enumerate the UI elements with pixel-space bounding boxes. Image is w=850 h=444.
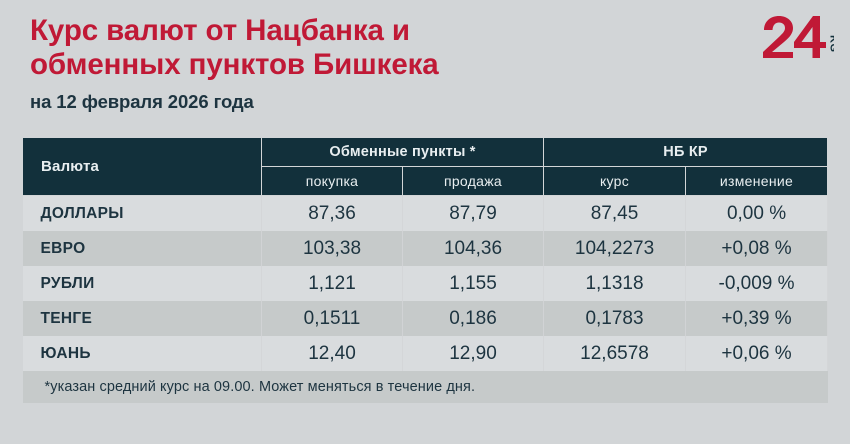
cell-change: +0,39 % — [686, 301, 828, 336]
cell-rate: 0,1783 — [544, 301, 686, 336]
cell-sell: 1,155 — [403, 266, 544, 301]
page-title-line-2: обменных пунктов Бишкека — [30, 48, 630, 82]
cell-rate: 12,6578 — [544, 336, 686, 371]
cell-change: 0,00 % — [686, 196, 828, 232]
footnote-text: *указан средний курс на 09.00. Может мен… — [23, 371, 828, 403]
header-sell: продажа — [403, 167, 544, 196]
header-change: изменение — [686, 167, 828, 196]
cell-buy: 103,38 — [262, 231, 403, 266]
cell-buy: 1,121 — [262, 266, 403, 301]
table-row: РУБЛИ 1,121 1,155 1,1318 -0,009 % — [23, 266, 828, 301]
cell-sell: 87,79 — [403, 196, 544, 232]
page-title: Курс валют от Нацбанка и обменных пункто… — [30, 14, 630, 82]
cell-sell: 12,90 — [403, 336, 544, 371]
cell-currency: ЮАНЬ — [23, 336, 262, 371]
table-row: ТЕНГЕ 0,1511 0,186 0,1783 +0,39 % — [23, 301, 828, 336]
table-header-group-row: Валюта Обменные пункты * НБ КР — [23, 138, 828, 167]
header-buy: покупка — [262, 167, 403, 196]
cell-rate: 1,1318 — [544, 266, 686, 301]
cell-buy: 12,40 — [262, 336, 403, 371]
table-row: ЕВРО 103,38 104,36 104,2273 +0,08 % — [23, 231, 828, 266]
cell-buy: 0,1511 — [262, 301, 403, 336]
cell-currency: РУБЛИ — [23, 266, 262, 301]
table-footnote-row: *указан средний курс на 09.00. Может мен… — [23, 371, 828, 403]
header-exchange-points: Обменные пункты * — [262, 138, 544, 167]
currency-rates-table: Валюта Обменные пункты * НБ КР покупка п… — [22, 137, 828, 403]
svg-text:KG: KG — [828, 35, 835, 53]
cell-sell: 104,36 — [403, 231, 544, 266]
cell-change: -0,009 % — [686, 266, 828, 301]
cell-sell: 0,186 — [403, 301, 544, 336]
cell-change: +0,06 % — [686, 336, 828, 371]
page-subtitle-date: на 12 февраля 2026 года — [30, 91, 254, 113]
header-national-bank: НБ КР — [544, 138, 828, 167]
cell-rate: 104,2273 — [544, 231, 686, 266]
table-row: ЮАНЬ 12,40 12,90 12,6578 +0,06 % — [23, 336, 828, 371]
cell-currency: ЕВРО — [23, 231, 262, 266]
cell-rate: 87,45 — [544, 196, 686, 232]
header-currency: Валюта — [23, 138, 262, 196]
header-rate: курс — [544, 167, 686, 196]
page-header: Курс валют от Нацбанка и обменных пункто… — [0, 0, 850, 131]
cell-buy: 87,36 — [262, 196, 403, 232]
cell-change: +0,08 % — [686, 231, 828, 266]
cell-currency: ТЕНГЕ — [23, 301, 262, 336]
cell-currency: ДОЛЛАРЫ — [23, 196, 262, 232]
table-row: ДОЛЛАРЫ 87,36 87,79 87,45 0,00 % — [23, 196, 828, 232]
table-header: Валюта Обменные пункты * НБ КР покупка п… — [23, 138, 828, 196]
24kg-logo: KG — [756, 14, 834, 60]
page-title-line-1: Курс валют от Нацбанка и — [30, 14, 630, 48]
table-body: ДОЛЛАРЫ 87,36 87,79 87,45 0,00 % ЕВРО 10… — [23, 196, 828, 404]
